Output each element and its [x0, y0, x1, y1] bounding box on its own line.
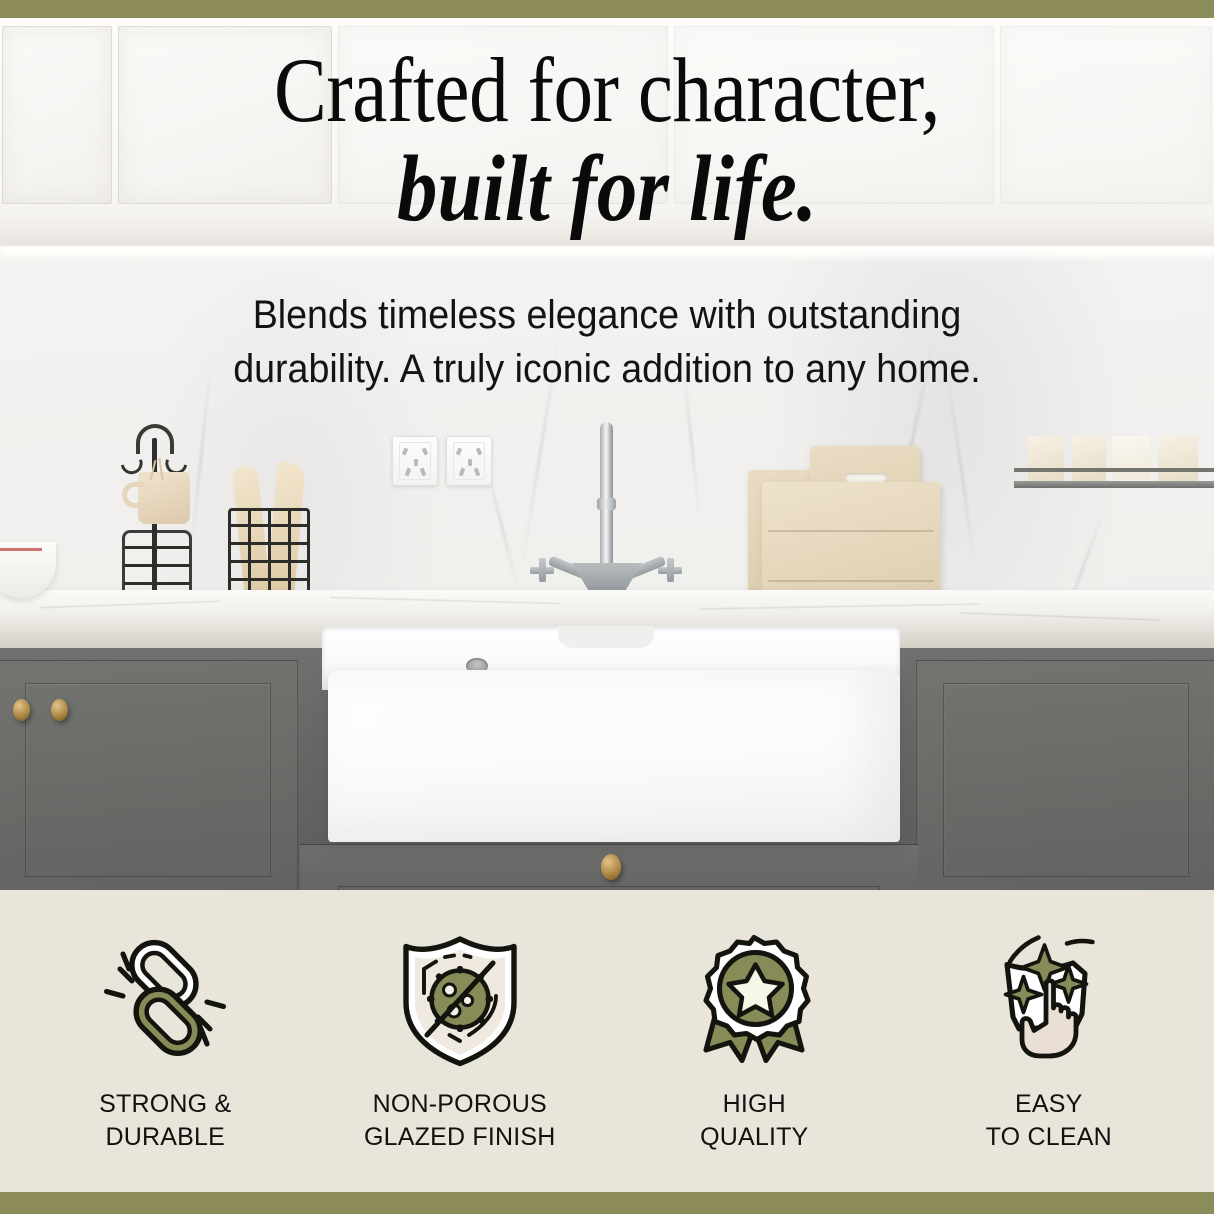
wall-outlet — [446, 436, 492, 486]
storage-jar — [1028, 436, 1064, 482]
faucet-spout — [600, 422, 613, 572]
board-groove — [768, 580, 934, 582]
under-cabinet-light — [0, 246, 1214, 262]
feature-label-line-1: HIGH — [700, 1088, 808, 1121]
cutting-board-handle-hole — [845, 473, 887, 482]
faucet-cross-handle — [530, 558, 554, 582]
feature-label: EASY TO CLEAN — [986, 1088, 1112, 1154]
wall-shelf — [1014, 481, 1214, 488]
headline-line-1: Crafted for character, — [85, 44, 1129, 138]
board-groove — [768, 530, 934, 532]
countertop-vein — [700, 604, 980, 610]
feature-label-line-1: NON-POROUS — [364, 1088, 556, 1121]
award-rosette-star-icon — [679, 924, 829, 1074]
product-feature-banner: Crafted for character, built for life. B… — [0, 0, 1214, 1214]
feature-label-line-1: STRONG & — [99, 1088, 231, 1121]
feature-label-line-2: TO CLEAN — [986, 1121, 1112, 1154]
page-title: Crafted for character, built for life. — [0, 44, 1214, 241]
shield-germ-blocked-icon — [385, 924, 535, 1074]
hand-wiping-cloth-sparkle-icon — [974, 924, 1124, 1074]
outlet-slot — [414, 459, 418, 466]
farmhouse-sink-apron — [328, 670, 900, 842]
cabinet-door-left — [0, 660, 298, 890]
countertop-vein — [330, 597, 560, 604]
feature-strong-durable: STRONG & DURABLE — [30, 924, 300, 1154]
brass-knob-center — [601, 854, 621, 880]
feature-easy-to-clean: EASY TO CLEAN — [914, 924, 1184, 1154]
ceramic-mug — [138, 472, 190, 524]
feature-strip: STRONG & DURABLE — [0, 890, 1214, 1192]
subheadline-line-1: Blends timeless elegance with outstandin… — [137, 288, 1077, 342]
mug-tree-rung — [124, 546, 190, 549]
feature-high-quality: HIGH QUALITY — [619, 924, 889, 1154]
storage-jar — [1112, 436, 1150, 480]
faucet-cross-handle — [658, 558, 682, 582]
mug-tree-rung — [124, 564, 190, 567]
feature-label-line-2: GLAZED FINISH — [364, 1121, 556, 1154]
shelf-rail — [1014, 468, 1214, 472]
brass-knob — [13, 699, 30, 721]
storage-jar — [1072, 436, 1106, 482]
headline-line-2: built for life. — [85, 138, 1129, 241]
feature-label-line-2: DURABLE — [99, 1121, 231, 1154]
sink-basin-divider — [558, 626, 654, 648]
mug-handle — [122, 482, 144, 508]
feature-non-porous: NON-POROUS GLAZED FINISH — [325, 924, 595, 1154]
chain-links-icon — [90, 924, 240, 1074]
countertop-vein — [960, 613, 1160, 621]
wall-outlet — [392, 436, 438, 486]
bottom-olive-bar — [0, 1192, 1214, 1214]
mug-tree-holder — [108, 422, 208, 618]
subheadline-line-2: durability. A truly iconic addition to a… — [137, 342, 1077, 396]
cabinet-door-inset — [943, 683, 1189, 877]
countertop-vein — [40, 601, 220, 608]
faucet-collar — [597, 498, 616, 510]
storage-jar — [1158, 436, 1198, 484]
feature-label: STRONG & DURABLE — [99, 1088, 231, 1154]
feature-label: NON-POROUS GLAZED FINISH — [364, 1088, 556, 1154]
feature-label-line-1: EASY — [986, 1088, 1112, 1121]
feature-label-line-2: QUALITY — [700, 1121, 808, 1154]
bowl-stripe — [0, 548, 42, 551]
cabinet-door-right — [916, 660, 1214, 890]
mug-tree-rung — [124, 582, 190, 585]
subheadline: Blends timeless elegance with outstandin… — [137, 288, 1077, 397]
outlet-slot — [468, 459, 472, 466]
brass-knob — [51, 699, 68, 721]
mug-tree-arch — [136, 424, 174, 454]
top-olive-bar — [0, 0, 1214, 18]
feature-label: HIGH QUALITY — [700, 1088, 808, 1154]
